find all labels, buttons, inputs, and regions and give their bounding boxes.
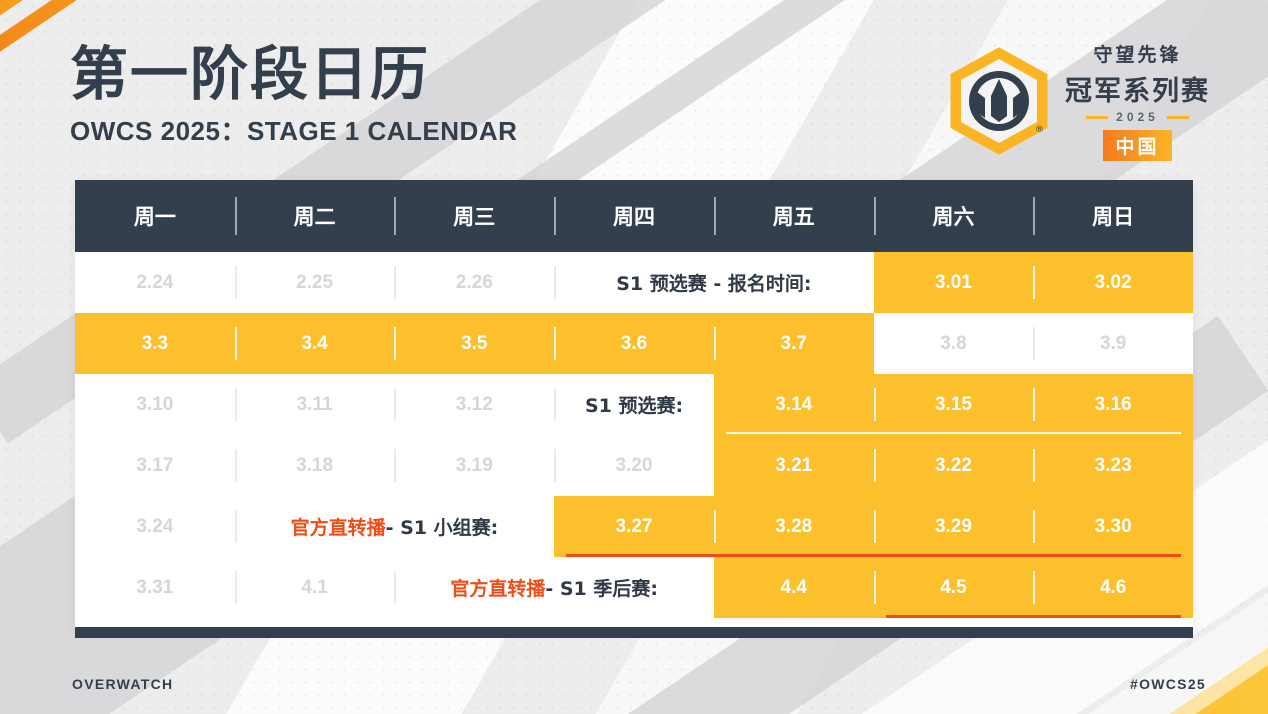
owcs-logo: ® 守望先锋 冠军系列赛 2025 中国 — [947, 40, 1210, 161]
calendar-header-cell-6: 周六 — [874, 180, 1034, 252]
calendar-date-cell: 3.19 — [394, 435, 554, 496]
calendar-header-cell-2: 周二 — [235, 180, 395, 252]
calendar-date-cell[interactable]: 3.3 — [75, 313, 235, 374]
calendar-date-cell[interactable]: 3.29 — [874, 496, 1034, 557]
footer-brand: OVERWATCH — [72, 676, 173, 692]
calendar-header-cell-3: 周三 — [394, 180, 554, 252]
calendar-header-cell-1: 周一 — [75, 180, 235, 252]
broadcast-underline — [886, 615, 1181, 618]
calendar-date-cell[interactable]: 3.6 — [554, 313, 714, 374]
logo-dash-right-icon — [1167, 116, 1189, 119]
calendar-header-cell-5: 周五 — [714, 180, 874, 252]
calendar-date-cell[interactable]: 3.4 — [235, 313, 395, 374]
calendar-date-cell: 2.24 — [75, 252, 235, 313]
broadcast-tag: 官方直转播 — [291, 513, 386, 540]
calendar-row: 3.103.113.12S1 预选赛:3.143.153.16 — [75, 374, 1193, 435]
calendar-date-cell: 3.9 — [1033, 313, 1193, 374]
event-name: - S1 季后赛: — [545, 574, 658, 601]
calendar-date-cell[interactable]: 3.01 — [874, 252, 1034, 313]
calendar-date-cell[interactable]: 3.21 — [714, 435, 874, 496]
calendar-row: 3.33.43.53.63.73.83.9 — [75, 313, 1193, 374]
calendar-date-cell[interactable]: 3.22 — [874, 435, 1034, 496]
calendar-date-cell: 2.25 — [235, 252, 395, 313]
calendar-header-cell-4: 周四 — [554, 180, 714, 252]
calendar-header-row: 周一周二周三周四周五周六周日 — [75, 180, 1193, 252]
calendar-event-label: 官方直转播 - S1 小组赛: — [235, 496, 554, 557]
logo-year-row: 2025 — [1086, 110, 1189, 124]
calendar-date-cell: 3.8 — [874, 313, 1034, 374]
calendar-date-cell[interactable]: 3.7 — [714, 313, 874, 374]
calendar-row: 3.314.1官方直转播 - S1 季后赛:4.44.54.6 — [75, 557, 1193, 618]
logo-line-champions-series: 冠军系列赛 — [1065, 69, 1210, 108]
calendar-date-cell: 3.17 — [75, 435, 235, 496]
calendar-event-label: S1 预选赛: — [554, 374, 714, 435]
calendar-date-cell: 3.31 — [75, 557, 235, 618]
calendar-date-cell: 3.24 — [75, 496, 235, 557]
overwatch-logo-icon: ® — [947, 46, 1051, 156]
logo-text-block: 守望先锋 冠军系列赛 2025 中国 — [1065, 40, 1210, 161]
calendar-date-cell[interactable]: 3.28 — [714, 496, 874, 557]
calendar-date-cell[interactable]: 4.6 — [1033, 557, 1193, 618]
footer-hashtag: #OWCS25 — [1130, 676, 1206, 692]
calendar-table: 周一周二周三周四周五周六周日 2.242.252.26S1 预选赛 - 报名时间… — [75, 180, 1193, 632]
calendar-row: 3.24官方直转播 - S1 小组赛:3.273.283.293.30 — [75, 496, 1193, 557]
calendar-date-cell: 3.11 — [235, 374, 395, 435]
page-title: 第一阶段日历 — [70, 44, 517, 105]
calendar-row: 2.242.252.26S1 预选赛 - 报名时间:3.013.02 — [75, 252, 1193, 313]
calendar-header-cell-7: 周日 — [1033, 180, 1193, 252]
calendar-event-label: 官方直转播 - S1 季后赛: — [394, 557, 713, 618]
page-footer: OVERWATCH #OWCS25 — [0, 644, 1268, 714]
calendar-date-cell: 3.12 — [394, 374, 554, 435]
calendar-event-label: S1 预选赛 - 报名时间: — [554, 252, 873, 313]
calendar-date-cell: 3.10 — [75, 374, 235, 435]
calendar-date-cell[interactable]: 4.4 — [714, 557, 874, 618]
calendar-date-cell[interactable]: 3.15 — [874, 374, 1034, 435]
calendar-date-cell[interactable]: 3.14 — [714, 374, 874, 435]
calendar-date-cell: 3.18 — [235, 435, 395, 496]
event-name: - S1 小组赛: — [386, 513, 499, 540]
broadcast-tag: 官方直转播 — [450, 574, 545, 601]
logo-year: 2025 — [1116, 110, 1159, 124]
svg-text:®: ® — [1035, 125, 1044, 135]
title-block: 第一阶段日历 OWCS 2025：STAGE 1 CALENDAR — [70, 44, 517, 148]
calendar-body: 2.242.252.26S1 预选赛 - 报名时间:3.013.023.33.4… — [75, 252, 1193, 618]
calendar-date-cell[interactable]: 3.16 — [1033, 374, 1193, 435]
logo-line-overwatch: 守望先锋 — [1093, 40, 1181, 67]
page-header: 第一阶段日历 OWCS 2025：STAGE 1 CALENDAR ® 守望先锋… — [0, 0, 1268, 172]
merged-block-separator — [726, 432, 1181, 434]
page-subtitle: OWCS 2025：STAGE 1 CALENDAR — [70, 111, 517, 148]
logo-region-badge: 中国 — [1103, 130, 1171, 161]
calendar-row: 3.173.183.193.203.213.223.23 — [75, 435, 1193, 496]
calendar-date-cell: 3.20 — [554, 435, 714, 496]
calendar-date-cell[interactable]: 4.5 — [874, 557, 1034, 618]
calendar-date-cell[interactable]: 3.27 — [554, 496, 714, 557]
calendar-date-cell[interactable]: 3.5 — [394, 313, 554, 374]
calendar-date-cell: 4.1 — [235, 557, 395, 618]
calendar-date-cell[interactable]: 3.30 — [1033, 496, 1193, 557]
calendar-date-cell: 2.26 — [394, 252, 554, 313]
calendar-date-cell[interactable]: 3.02 — [1033, 252, 1193, 313]
calendar-bottom-bar — [75, 627, 1193, 638]
calendar-date-cell[interactable]: 3.23 — [1033, 435, 1193, 496]
logo-dash-left-icon — [1086, 116, 1108, 119]
